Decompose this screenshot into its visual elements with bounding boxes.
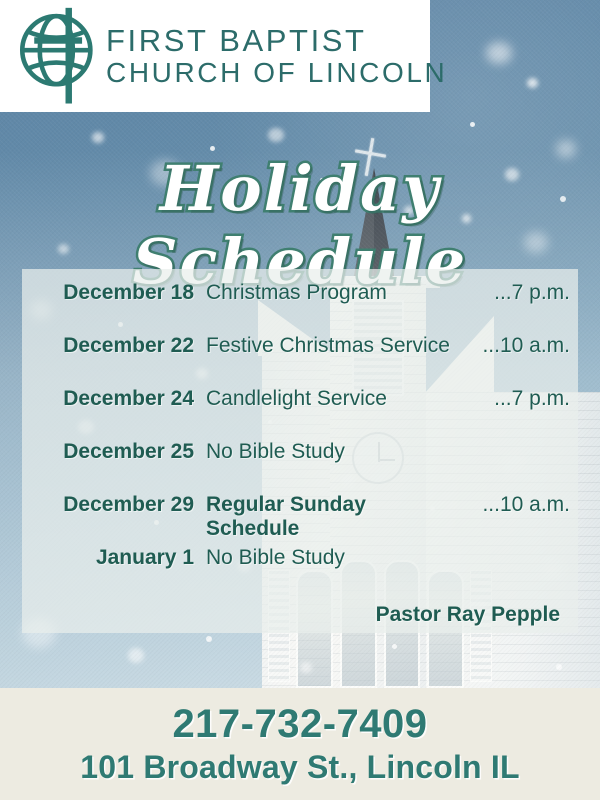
schedule-date: January 1 bbox=[22, 546, 194, 570]
schedule-time: ...10 a.m. bbox=[462, 334, 570, 358]
schedule-time: ...7 p.m. bbox=[462, 281, 570, 305]
schedule-date: December 18 bbox=[22, 281, 194, 305]
schedule-row: December 25No Bible Study bbox=[22, 440, 570, 493]
schedule-description: No Bible Study bbox=[194, 440, 462, 464]
schedule-description: No Bible Study bbox=[194, 546, 462, 570]
schedule-row: December 29Regular Sunday Schedule...10 … bbox=[22, 493, 570, 546]
schedule-date: December 22 bbox=[22, 334, 194, 358]
schedule-description: Candlelight Service bbox=[194, 387, 462, 411]
street-address: 101 Broadway St., Lincoln IL bbox=[80, 749, 519, 786]
schedule-date: December 25 bbox=[22, 440, 194, 464]
schedule-row: January 1No Bible Study bbox=[22, 546, 570, 599]
schedule-date: December 29 bbox=[22, 493, 194, 517]
schedule-row: December 24Candlelight Service...7 p.m. bbox=[22, 387, 570, 440]
schedule-row: December 18Christmas Program...7 p.m. bbox=[22, 281, 570, 334]
schedule-date: December 24 bbox=[22, 387, 194, 411]
holiday-schedule-flyer: FIRST BAPTIST CHURCH OF LINCOLN Holiday … bbox=[0, 0, 600, 800]
brand-header: FIRST BAPTIST CHURCH OF LINCOLN bbox=[0, 0, 430, 112]
contact-footer: 217-732-7409 101 Broadway St., Lincoln I… bbox=[0, 688, 600, 800]
brand-name-line-2: CHURCH OF LINCOLN bbox=[106, 58, 447, 88]
schedule-description: Regular Sunday Schedule bbox=[194, 493, 462, 541]
schedule-description: Christmas Program bbox=[194, 281, 462, 305]
schedule-panel: December 18Christmas Program...7 p.m.Dec… bbox=[22, 269, 578, 633]
schedule-time: ...10 a.m. bbox=[462, 493, 570, 517]
schedule-time: ...7 p.m. bbox=[462, 387, 570, 411]
schedule-row: December 22Festive Christmas Service...1… bbox=[22, 334, 570, 387]
brand-name-line-1: FIRST BAPTIST bbox=[106, 25, 447, 58]
schedule-row-list: December 18Christmas Program...7 p.m.Dec… bbox=[22, 281, 570, 599]
brand-name-block: FIRST BAPTIST CHURCH OF LINCOLN bbox=[106, 25, 447, 88]
globe-cross-icon bbox=[14, 6, 106, 105]
schedule-description: Festive Christmas Service bbox=[194, 334, 462, 358]
phone-number[interactable]: 217-732-7409 bbox=[172, 702, 427, 747]
pastor-signature: Pastor Ray Pepple bbox=[22, 603, 570, 627]
